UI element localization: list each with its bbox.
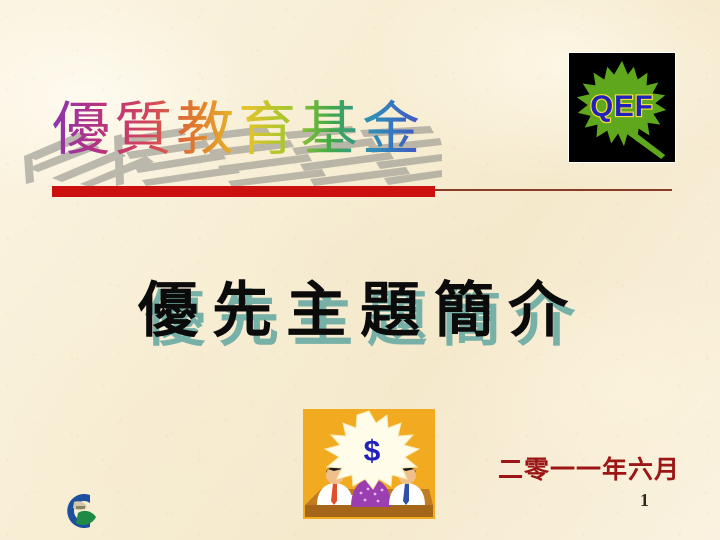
edb-logo: [52, 489, 108, 533]
organisation-title: 優質教育基金: [52, 92, 452, 166]
slide-date: 二零一一年六月: [498, 450, 680, 486]
svg-text:$: $: [364, 435, 381, 468]
divider-red-bar: [52, 186, 435, 197]
divider-thin-line: [435, 189, 672, 191]
svg-text:QEF: QEF: [590, 90, 653, 123]
slide-main-heading: 優先主題簡介: [0, 262, 720, 349]
page-number: 1: [640, 490, 649, 511]
presentation-slide: 優質教育基金 QEF 優先主題簡介: [0, 0, 720, 540]
qef-logo: QEF: [568, 52, 676, 163]
meeting-dollar-clipart: $: [303, 409, 435, 519]
